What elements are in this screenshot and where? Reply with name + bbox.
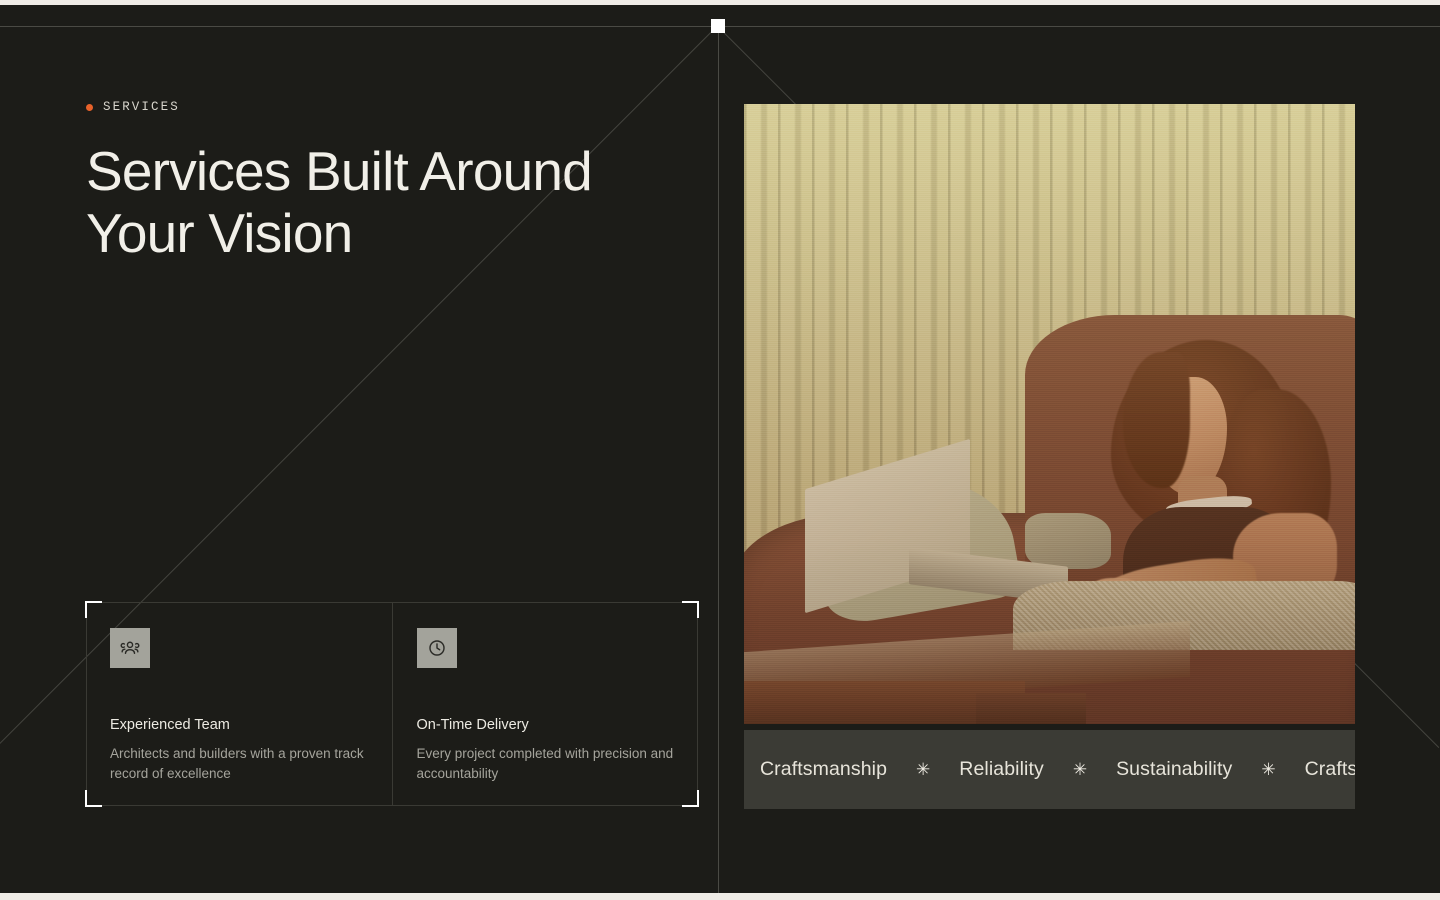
marquee-item: Craftsmanship [1305, 758, 1355, 781]
clock-icon [417, 628, 457, 668]
marquee-track: Craftsmanship✳Reliability✳Sustainability… [744, 758, 1355, 781]
section-eyebrow: SERVICES [86, 100, 698, 114]
services-photo [744, 104, 1355, 724]
guide-vertical-line [718, 26, 719, 893]
feature-cards-container: Experienced Team Architects and builders… [86, 602, 698, 806]
feature-card-on-time-delivery[interactable]: On-Time Delivery Every project completed… [392, 602, 699, 806]
values-marquee: Craftsmanship✳Reliability✳Sustainability… [744, 730, 1355, 809]
page-title: Services Built Around Your Vision [86, 140, 698, 264]
dark-canvas: SERVICES Services Built Around Your Visi… [0, 5, 1440, 893]
marquee-item: Reliability [959, 758, 1044, 781]
marquee-separator-icon: ✳ [916, 761, 930, 778]
feature-card-description: Every project completed with precision a… [417, 744, 675, 784]
feature-card-description: Architects and builders with a proven tr… [110, 744, 368, 784]
corner-bracket-top-left-icon [85, 601, 102, 618]
feature-card-title: On-Time Delivery [417, 717, 675, 733]
photo-grain-overlay [744, 104, 1355, 724]
users-group-icon [110, 628, 150, 668]
corner-bracket-top-right-icon [682, 601, 699, 618]
bullet-dot-icon [86, 104, 93, 111]
feature-card-experienced-team[interactable]: Experienced Team Architects and builders… [86, 602, 392, 806]
marquee-separator-icon: ✳ [1073, 761, 1087, 778]
feature-card-title: Experienced Team [110, 717, 368, 733]
photo-canvas [744, 104, 1355, 724]
section-eyebrow-label: SERVICES [103, 100, 180, 114]
services-intro: SERVICES Services Built Around Your Visi… [86, 100, 698, 264]
card-spacer [417, 668, 675, 717]
guide-node-marker-icon [711, 19, 725, 33]
corner-bracket-bottom-right-icon [682, 790, 699, 807]
corner-bracket-bottom-left-icon [85, 790, 102, 807]
card-spacer [110, 668, 368, 717]
feature-cards: Experienced Team Architects and builders… [86, 602, 698, 806]
marquee-item: Craftsmanship [760, 758, 887, 781]
marquee-separator-icon: ✳ [1261, 761, 1275, 778]
page-root: SERVICES Services Built Around Your Visi… [0, 0, 1440, 900]
marquee-item: Sustainability [1116, 758, 1232, 781]
